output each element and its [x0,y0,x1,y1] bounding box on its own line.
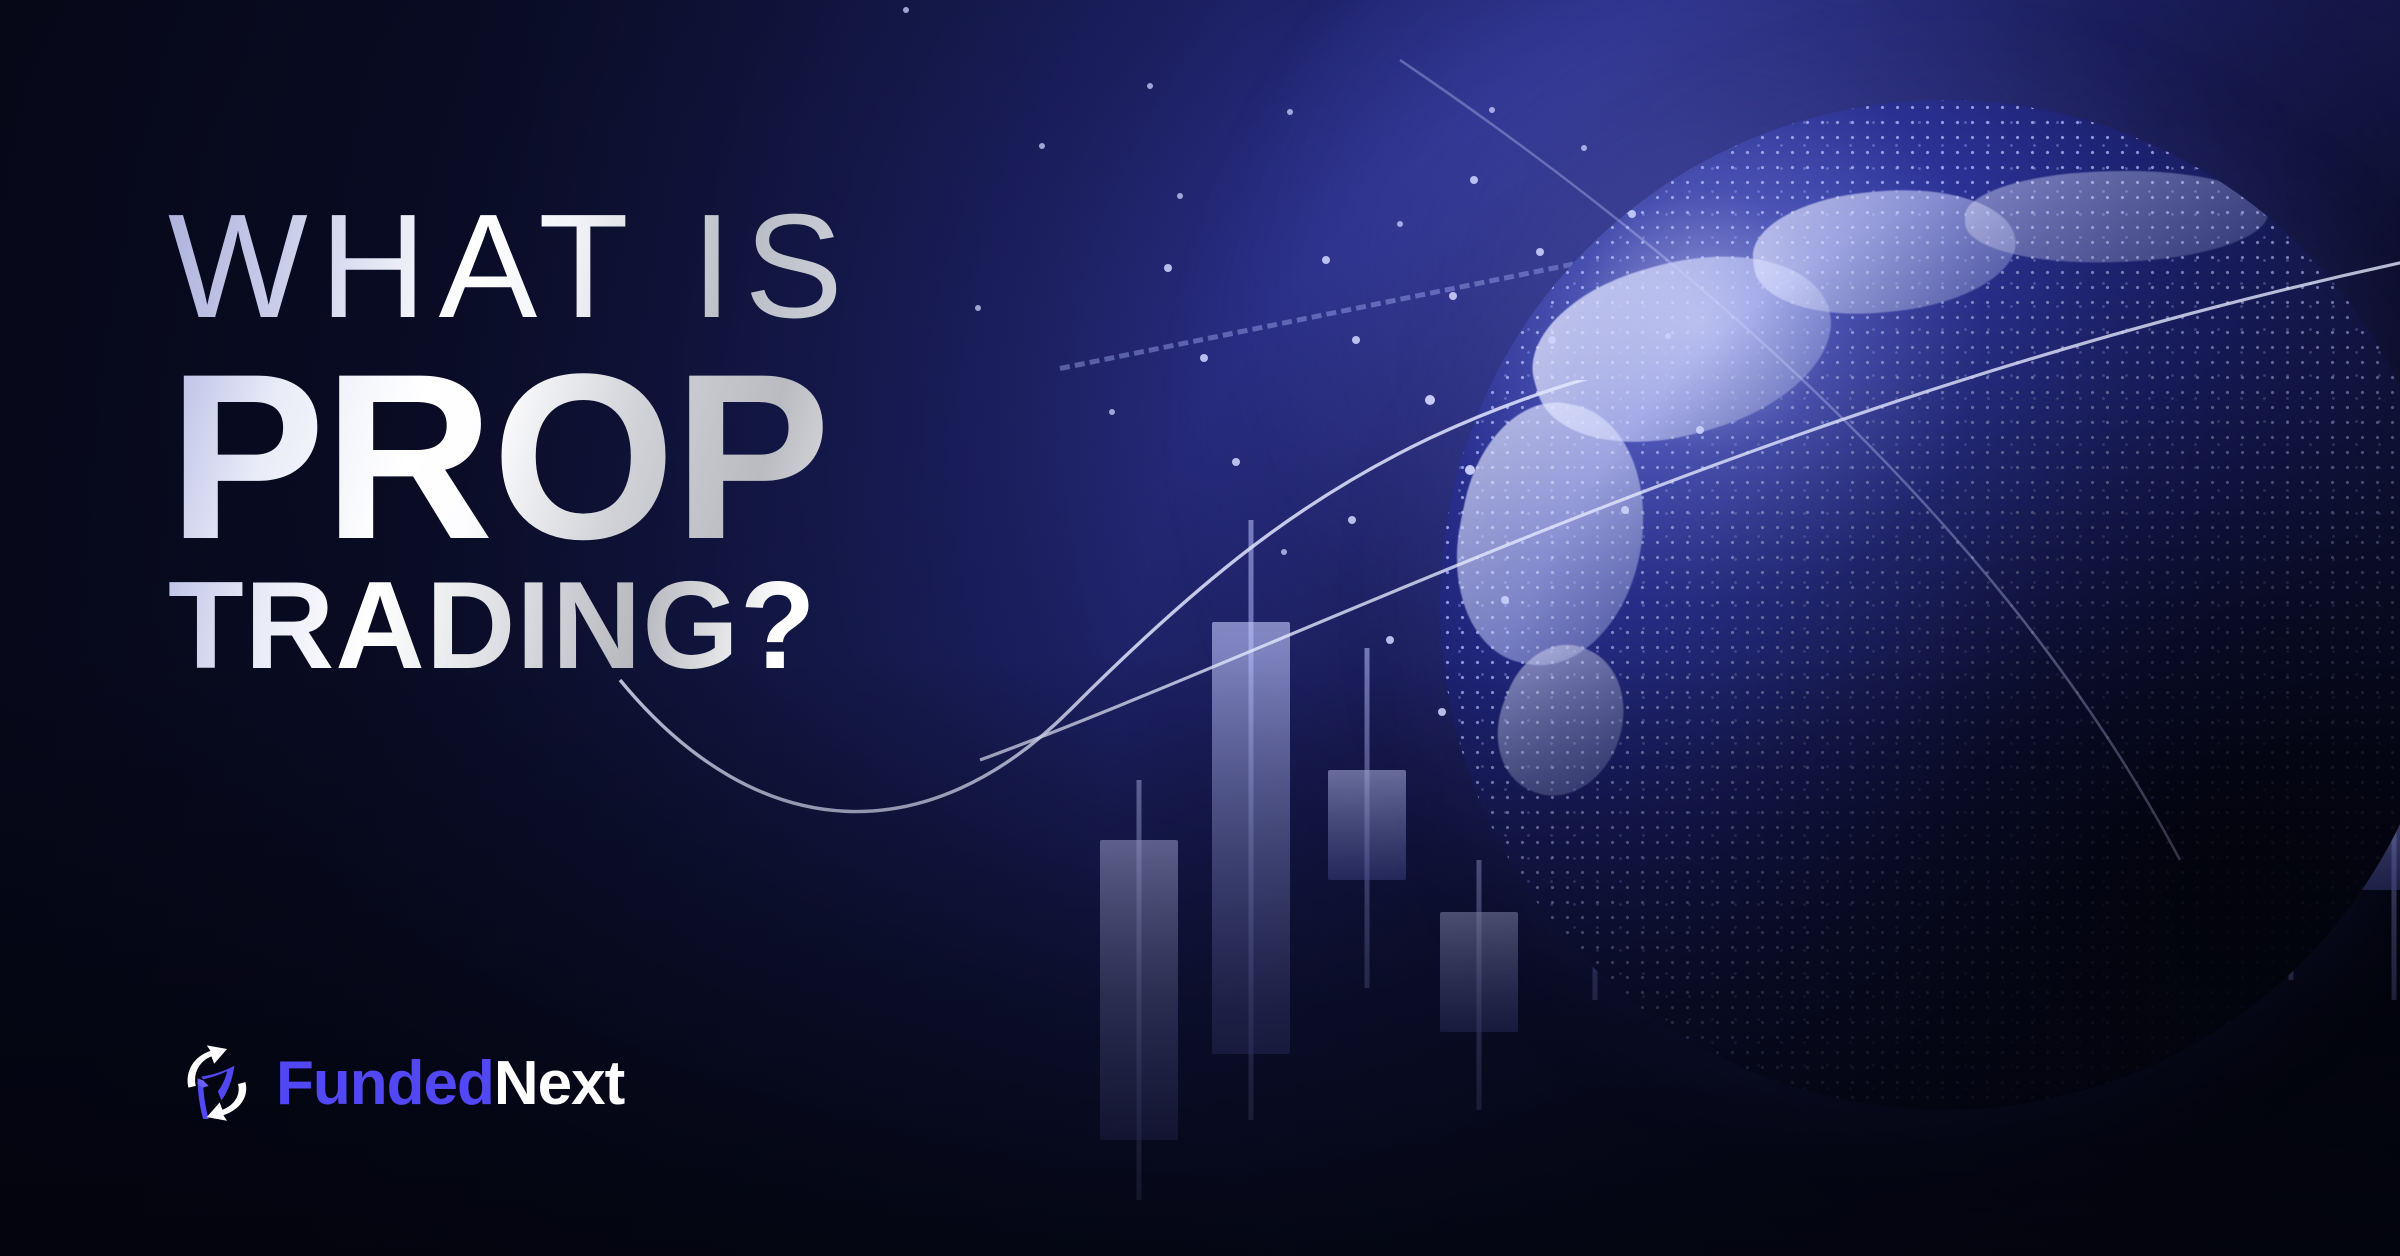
star-dot [1200,354,1208,362]
star-dot [1628,210,1636,218]
star-dot [1581,145,1587,151]
refresh-arrows-candlestick-icon [170,1038,262,1130]
star-dot [1287,109,1293,115]
star-dot [1501,596,1509,604]
star-dot [1425,395,1435,405]
star-dot [1470,176,1478,184]
brand-word-funded: Funded [276,1049,494,1118]
star-dot [1621,506,1629,514]
star-dot [1548,336,1556,344]
star-dot [1147,83,1153,89]
brand-logo[interactable]: FundedNext [170,1038,624,1130]
star-dot [1177,193,1183,199]
page-title: WHAT IS PROP TRADING? [168,196,855,686]
star-dot [1039,143,1045,149]
star-dot [1109,409,1115,415]
star-dot [1386,636,1394,644]
hero-banner: WHAT IS PROP TRADING? FundedNext [0,0,2400,1256]
star-dot [1281,549,1287,555]
star-dot [1164,264,1172,272]
star-dot [1397,221,1403,227]
brand-word-next: Next [494,1049,624,1118]
headline-line-2: PROP [168,354,855,562]
star-dot [1449,292,1457,300]
star-dot [975,305,981,311]
star-dot [1665,333,1671,339]
star-dot [1465,465,1475,475]
star-dot [1536,248,1544,256]
star-dot [1352,336,1360,344]
star-dot [1232,458,1240,466]
star-dot [903,7,909,13]
headline-line-1: WHAT IS [168,196,855,338]
star-dot [1322,256,1330,264]
star-dot [1438,708,1446,716]
star-dot [1696,426,1704,434]
star-dot [1489,107,1495,113]
star-dot [1348,516,1356,524]
brand-wordmark: FundedNext [276,1053,624,1115]
headline-line-3: TRADING? [168,568,855,686]
